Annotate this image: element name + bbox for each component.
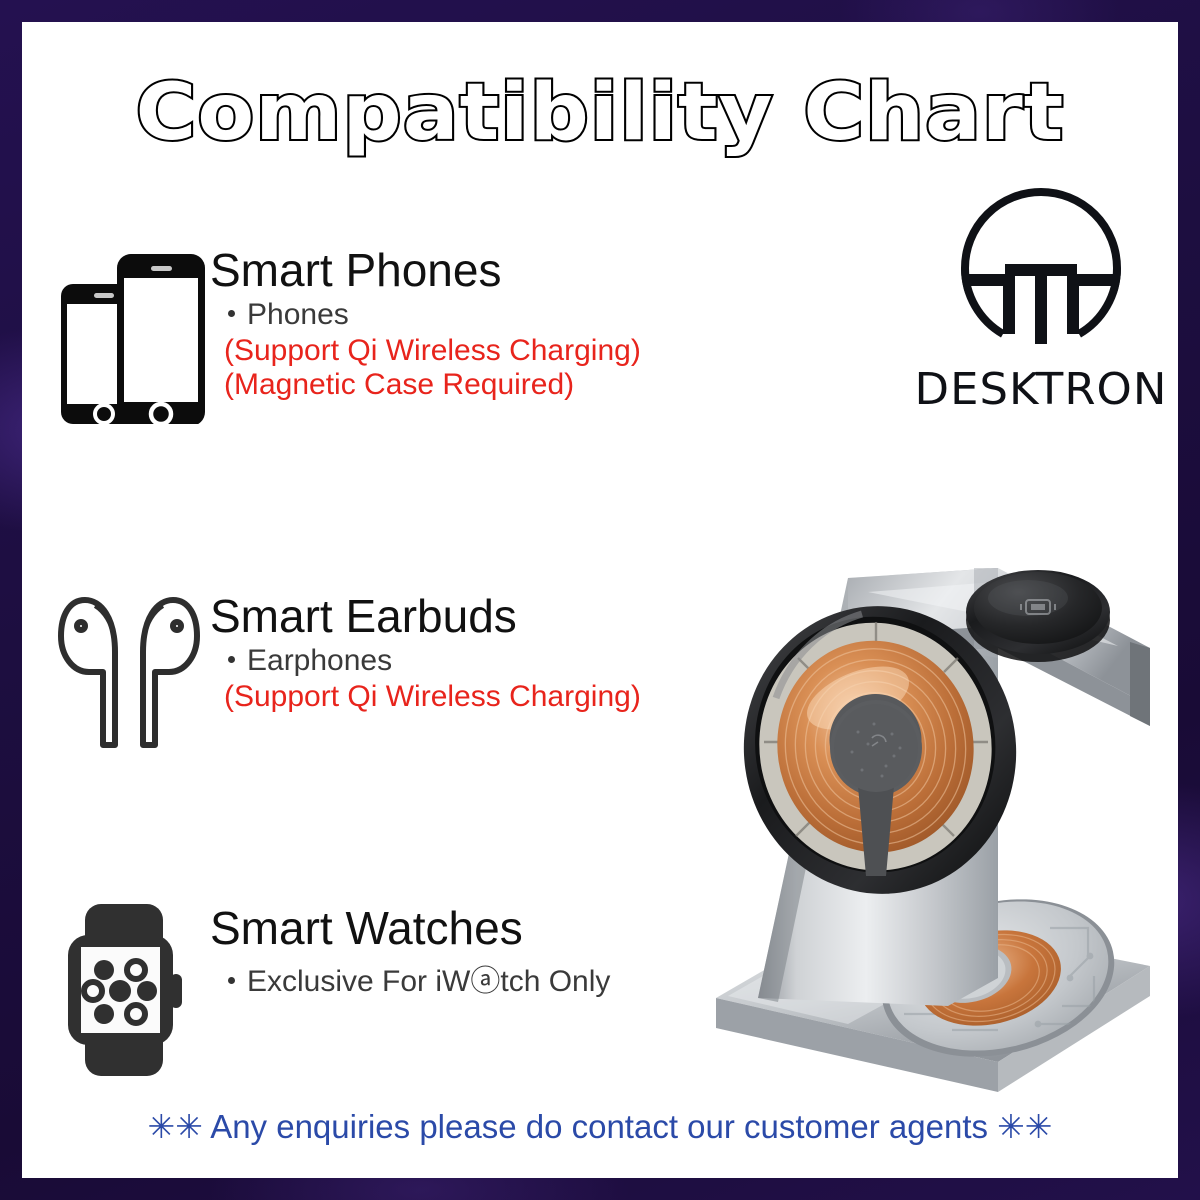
desktron-circle-t-logo-icon xyxy=(941,182,1141,362)
feature-smart-phones: Smart Phones Phones (Support Qi Wireless… xyxy=(50,244,641,424)
footer-note: ✳✳ Any enquiries please do contact our c… xyxy=(22,1107,1178,1146)
feature-note-1: (Support Qi Wireless Charging) xyxy=(224,334,641,368)
feature-bullet-label: Phones xyxy=(247,298,349,331)
wireless-earbuds-icon xyxy=(55,590,205,755)
feature-smart-earbuds: Smart Earbuds Earphones (Support Qi Wire… xyxy=(50,590,641,755)
two-smartphones-icon xyxy=(55,244,205,424)
smartwatch-icon xyxy=(60,902,200,1077)
feature-title: Smart Phones xyxy=(210,246,641,294)
feature-bullet: Phones xyxy=(228,298,641,332)
feature-icon-container xyxy=(50,244,210,424)
feature-note-2: (Magnetic Case Required) xyxy=(224,368,641,402)
poster-card: Compatibility Chart DESKTRON xyxy=(22,22,1178,1178)
bullet-dot xyxy=(228,656,235,663)
feature-copy: Smart Earbuds Earphones (Support Qi Wire… xyxy=(210,590,641,714)
feature-title: Smart Watches xyxy=(210,904,610,952)
feature-icon-container xyxy=(50,590,210,755)
feature-bullet-label: Exclusive For iWⓐtch Only xyxy=(247,965,610,998)
feature-bullet-label: Earphones xyxy=(247,644,392,677)
feature-smart-watches: Smart Watches Exclusive For iWⓐtch Only xyxy=(50,902,610,1077)
feature-copy: Smart Watches Exclusive For iWⓐtch Only xyxy=(210,902,610,1002)
brand-logo: DESKTRON xyxy=(916,182,1166,415)
feature-icon-container xyxy=(50,902,210,1077)
product-image-charging-stand xyxy=(698,458,1168,1098)
feature-note-1: (Support Qi Wireless Charging) xyxy=(224,680,641,714)
feature-copy: Smart Phones Phones (Support Qi Wireless… xyxy=(210,244,641,401)
feature-bullet: Earphones xyxy=(228,644,641,678)
bullet-dot xyxy=(228,977,235,984)
feature-title: Smart Earbuds xyxy=(210,592,641,640)
bullet-dot xyxy=(228,310,235,317)
feature-bullet: Exclusive For iWⓐtch Only xyxy=(228,956,610,1000)
page-title: Compatibility Chart xyxy=(22,74,1178,152)
brand-wordmark: DESKTRON xyxy=(914,364,1169,415)
poster-background: Compatibility Chart DESKTRON xyxy=(0,0,1200,1200)
